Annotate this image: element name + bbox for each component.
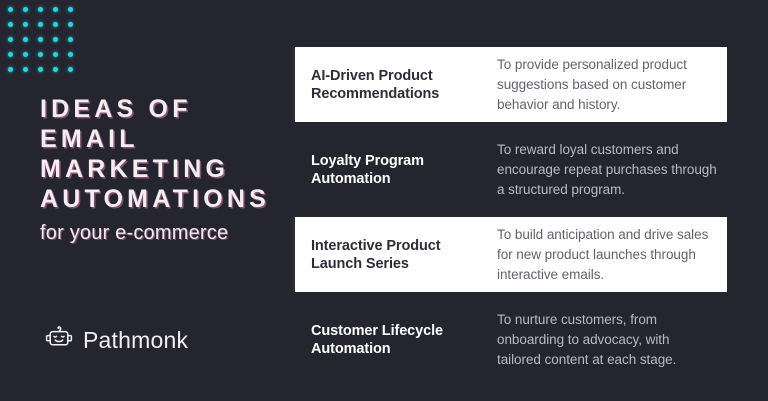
idea-card-title: Interactive Product Launch Series xyxy=(311,237,489,273)
dot-icon xyxy=(53,52,58,57)
dot-icon xyxy=(8,52,13,57)
idea-card-description: To provide personalized product suggesti… xyxy=(489,55,717,115)
infographic-canvas: IDEAS OF EMAIL MARKETING AUTOMATIONS for… xyxy=(0,0,768,401)
dot-icon xyxy=(38,37,43,42)
idea-card-description: To reward loyal customers and encourage … xyxy=(489,140,717,200)
dot-icon xyxy=(23,7,28,12)
idea-card: AI-Driven Product RecommendationsTo prov… xyxy=(292,47,727,122)
dot-icon xyxy=(38,52,43,57)
dot-icon xyxy=(53,67,58,72)
idea-card: Customer Lifecycle AutomationTo nurture … xyxy=(292,302,727,377)
hero-text-block: IDEAS OF EMAIL MARKETING AUTOMATIONS for… xyxy=(40,94,280,246)
dot-icon xyxy=(53,22,58,27)
automation-idea-list: AI-Driven Product RecommendationsTo prov… xyxy=(292,47,727,387)
idea-card: Loyalty Program AutomationTo reward loya… xyxy=(292,132,727,207)
dot-icon xyxy=(23,52,28,57)
dot-icon xyxy=(23,67,28,72)
dot-icon xyxy=(68,67,73,72)
idea-card-description: To build anticipation and drive sales fo… xyxy=(489,225,717,285)
pathmonk-robot-logo-icon xyxy=(44,323,74,358)
idea-card-title: Loyalty Program Automation xyxy=(311,152,489,188)
dot-grid-decoration xyxy=(8,7,83,82)
dot-icon xyxy=(23,22,28,27)
idea-card: Interactive Product Launch SeriesTo buil… xyxy=(292,217,727,292)
brand-name: Pathmonk xyxy=(83,327,188,354)
dot-icon xyxy=(38,7,43,12)
dot-icon xyxy=(68,7,73,12)
idea-card-title: AI-Driven Product Recommendations xyxy=(311,67,489,103)
dot-icon xyxy=(68,22,73,27)
page-title: IDEAS OF EMAIL MARKETING AUTOMATIONS xyxy=(40,94,280,214)
idea-card-title: Customer Lifecycle Automation xyxy=(311,322,489,358)
dot-icon xyxy=(23,37,28,42)
page-subtitle: for your e-commerce xyxy=(40,220,280,246)
dot-icon xyxy=(68,52,73,57)
dot-icon xyxy=(38,22,43,27)
brand-lockup: Pathmonk xyxy=(44,323,188,358)
dot-icon xyxy=(8,67,13,72)
dot-icon xyxy=(8,22,13,27)
dot-icon xyxy=(8,7,13,12)
dot-icon xyxy=(53,37,58,42)
idea-card-description: To nurture customers, from onboarding to… xyxy=(489,310,717,370)
dot-icon xyxy=(68,37,73,42)
dot-icon xyxy=(8,37,13,42)
dot-icon xyxy=(38,67,43,72)
dot-icon xyxy=(53,7,58,12)
